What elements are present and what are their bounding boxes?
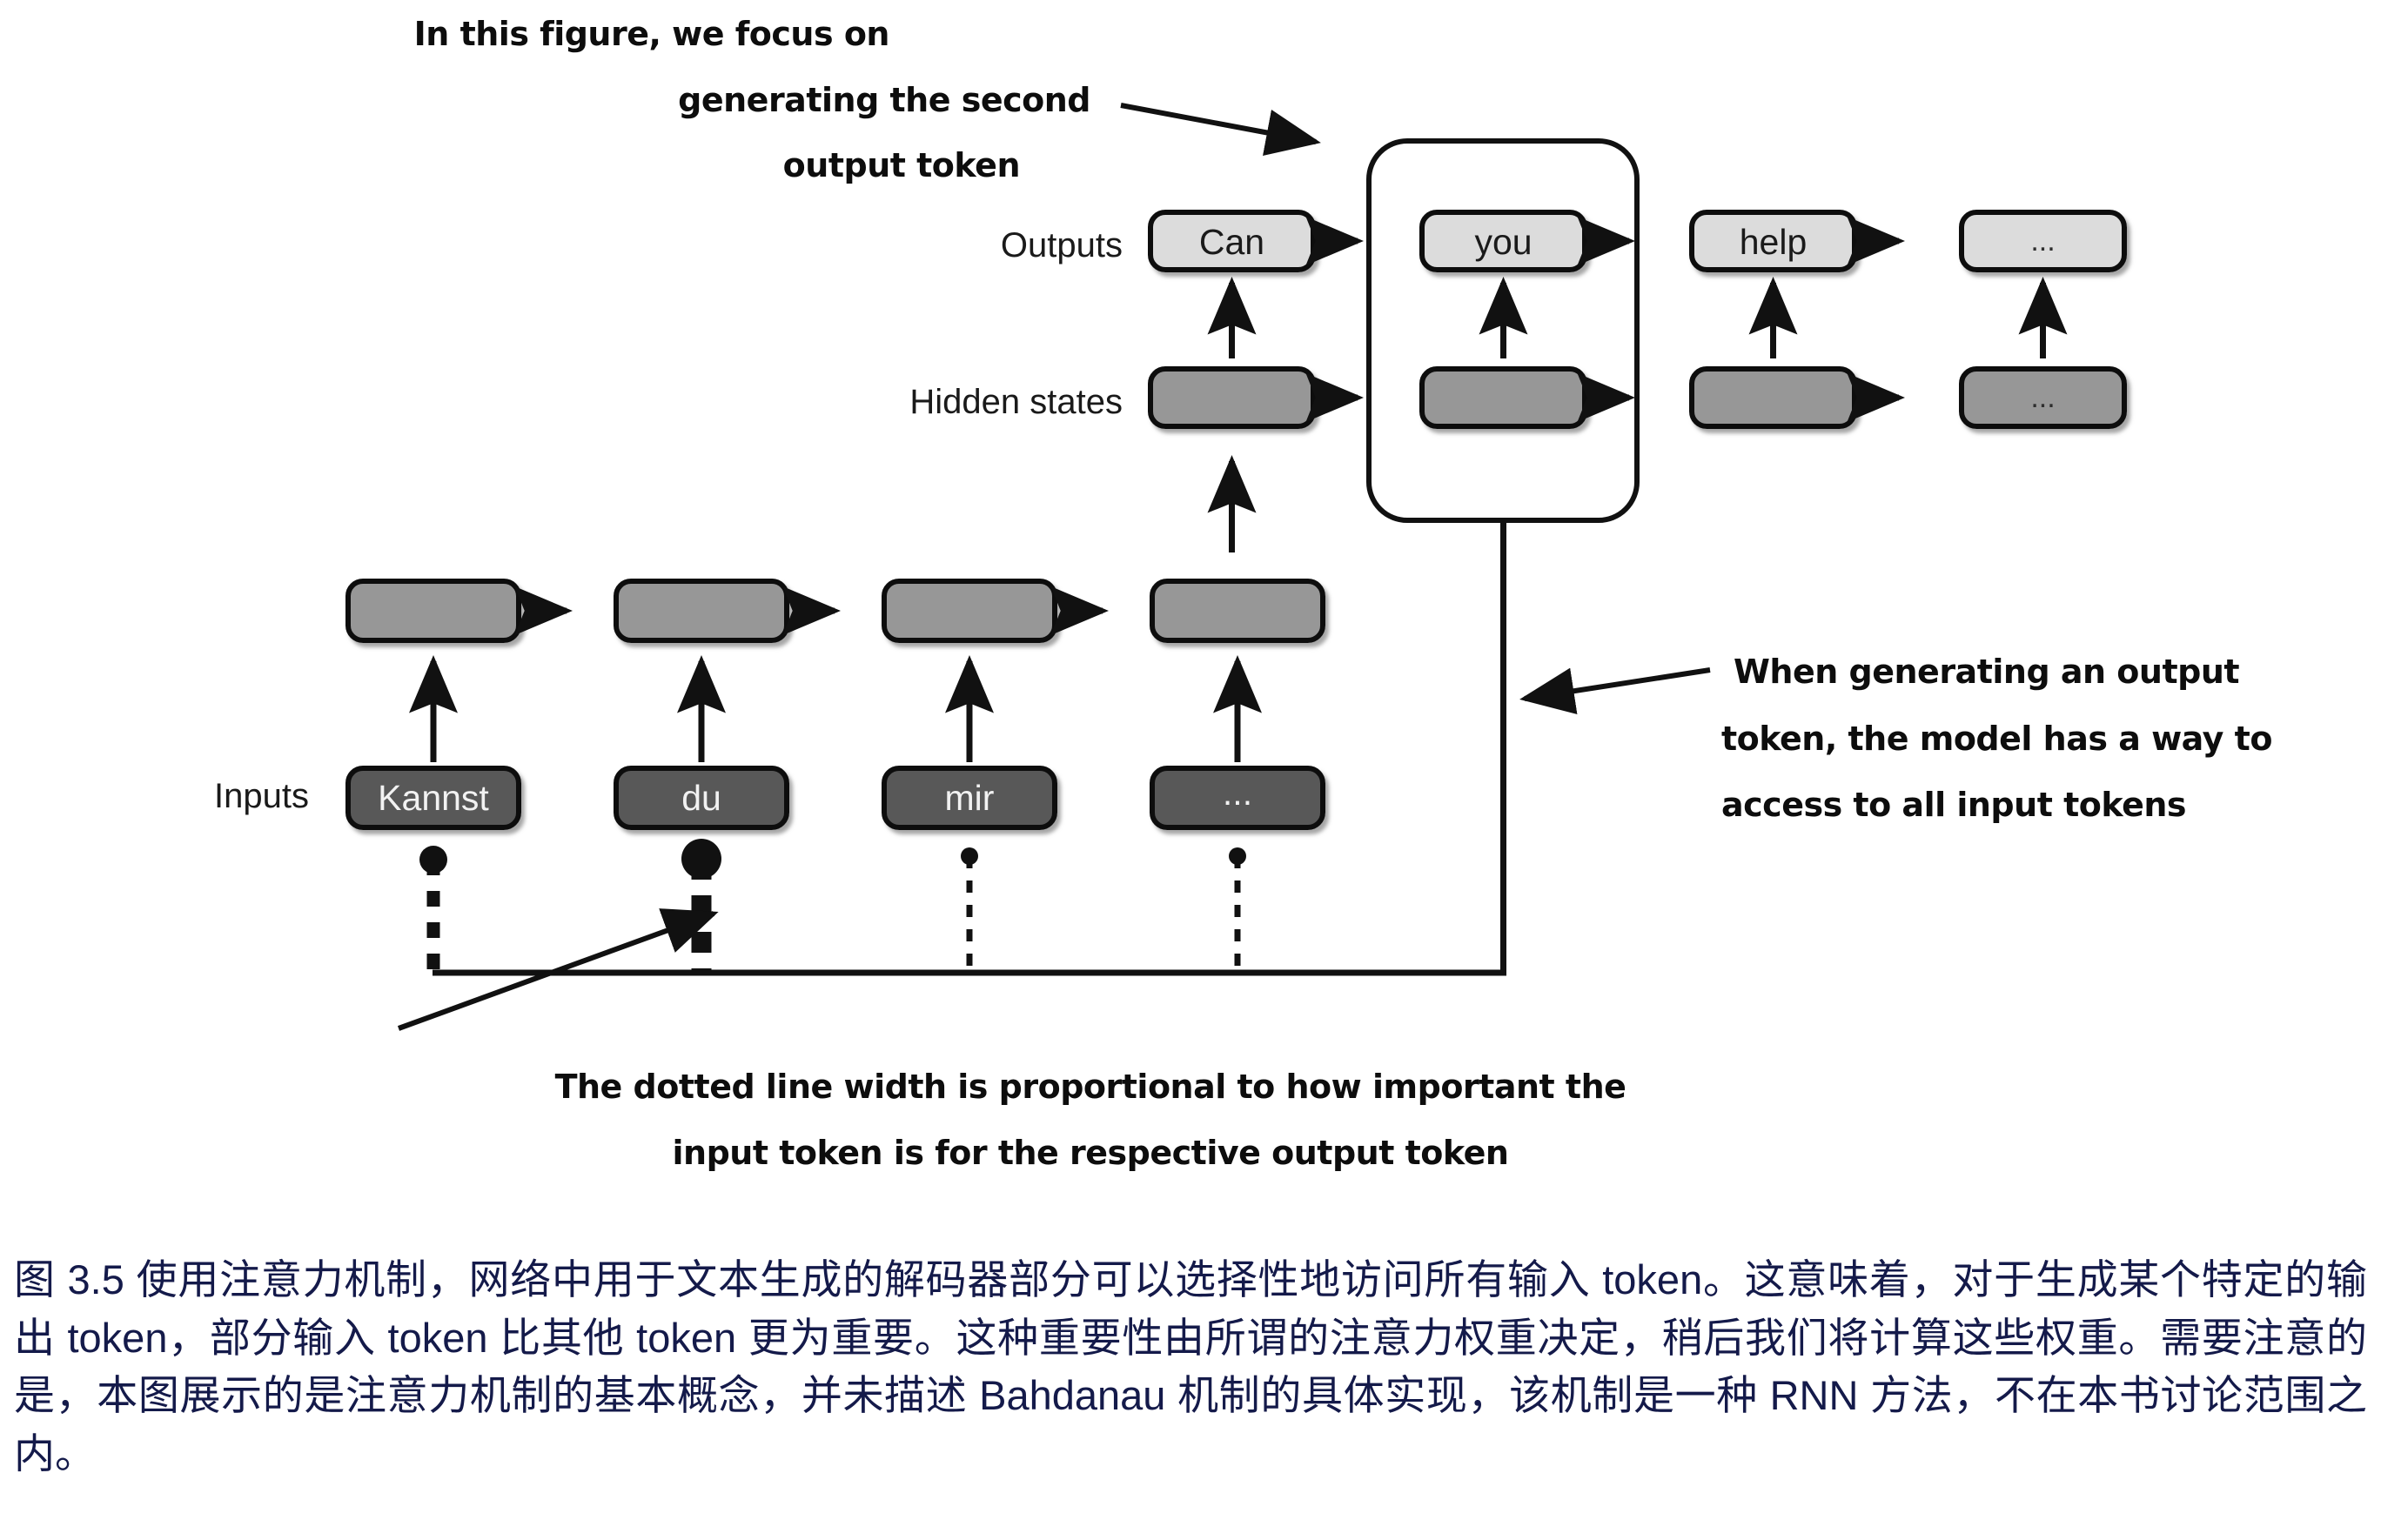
annotation-bottom-line-2: input token is for the respective output… [673, 1134, 1509, 1172]
output-box-3[interactable]: ... [1962, 212, 2124, 270]
figure-caption: 图 3.5 使用注意力机制，网络中用于文本生成的解码器部分可以选择性地访问所有输… [14, 1251, 2367, 1483]
annotation-right: When generating an output token, the mod… [1525, 653, 2272, 824]
row-label-outputs: Outputs [1001, 226, 1123, 264]
input-vertical-arrows [433, 661, 1237, 762]
input-box-1-label: du [681, 778, 721, 818]
decoder-hidden-box-2[interactable] [1692, 369, 1854, 426]
output-box-2[interactable]: help [1692, 212, 1854, 270]
annotation-right-line-3: access to all input tokens [1721, 786, 2186, 824]
output-box-0-label: Can [1199, 222, 1264, 262]
encoder-hidden-states-row [348, 581, 1323, 640]
annotation-right-arrow [1525, 670, 1710, 699]
decoder-hidden-box-3-label: ... [2030, 381, 2055, 414]
input-box-1[interactable]: du [616, 768, 787, 827]
output-box-3-label: ... [2030, 224, 2055, 258]
annotation-top-left-line-1: In this figure, we focus on [414, 15, 889, 53]
encoder-hidden-box-3[interactable] [1152, 581, 1323, 640]
input-box-0-label: Kannst [378, 778, 489, 818]
outputs-row: Outputs Can you help ... [1001, 212, 2124, 270]
annotation-bottom-line-1: The dotted line width is proportional to… [555, 1068, 1626, 1106]
encoder-hidden-box-0[interactable] [348, 581, 519, 640]
decoder-hidden-box-0[interactable] [1150, 369, 1313, 426]
output-box-1-label: you [1474, 222, 1532, 262]
annotation-top-left-line-2: generating the second [678, 81, 1090, 119]
output-box-0[interactable]: Can [1150, 212, 1313, 270]
row-label-hidden-states: Hidden states [909, 383, 1123, 421]
annotation-top-left-arrow [1121, 105, 1316, 142]
row-label-inputs: Inputs [214, 777, 309, 815]
encoder-hidden-box-2[interactable] [884, 581, 1055, 640]
annotation-right-line-1: When generating an output [1734, 653, 2239, 691]
input-box-0[interactable]: Kannst [348, 768, 519, 827]
figure-page: In this figure, we focus on generating t… [0, 0, 2381, 1540]
output-box-1[interactable]: you [1422, 212, 1585, 270]
annotation-top-left: In this figure, we focus on generating t… [414, 15, 1316, 184]
decoder-hidden-box-1[interactable] [1422, 369, 1585, 426]
annotation-right-line-2: token, the model has a way to [1721, 720, 2272, 758]
input-box-2[interactable]: mir [884, 768, 1055, 827]
input-box-3-label: ... [1223, 773, 1252, 813]
annotation-top-left-line-3: output token [783, 146, 1020, 184]
input-box-3[interactable]: ... [1152, 768, 1323, 827]
output-box-2-label: help [1740, 222, 1808, 262]
encoder-hidden-box-1[interactable] [616, 581, 787, 640]
inputs-row: Inputs Kannst du mir ... [214, 768, 1323, 827]
input-box-2-label: mir [945, 778, 995, 818]
decoder-hidden-box-3[interactable]: ... [1962, 369, 2124, 426]
attention-weight-lines [419, 839, 1246, 974]
attention-diagram: In this figure, we focus on generating t… [0, 0, 2381, 1235]
annotation-bottom: The dotted line width is proportional to… [399, 914, 1626, 1172]
decoder-hidden-states-row: Hidden states ... [909, 369, 2124, 426]
